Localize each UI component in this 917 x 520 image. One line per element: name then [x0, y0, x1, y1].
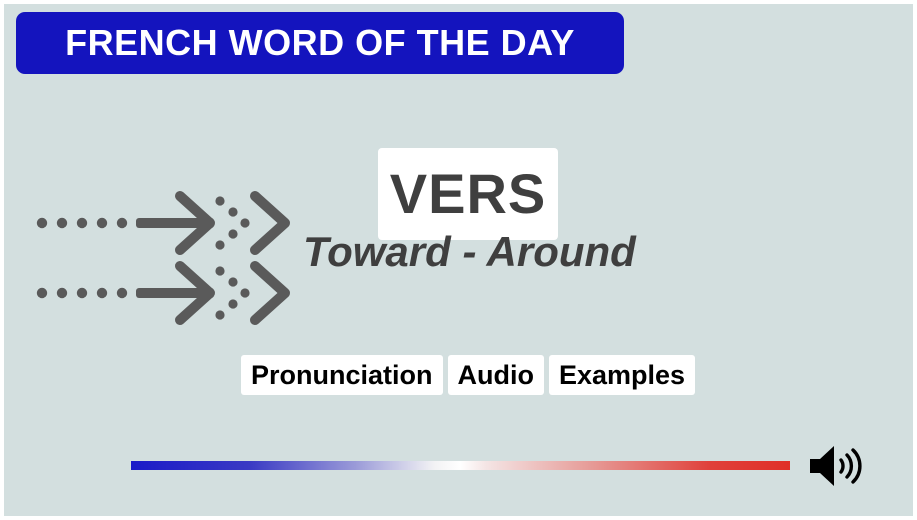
pronunciation-button[interactable]: Pronunciation	[241, 355, 443, 395]
double-arrow-with-dots-icon	[30, 258, 295, 328]
french-word: VERS	[390, 166, 547, 222]
french-word-of-the-day-card: FRENCH WORD OF THE DAY	[0, 0, 917, 520]
french-flag-gradient-bar[interactable]	[131, 461, 790, 470]
examples-button[interactable]: Examples	[549, 355, 695, 395]
audio-button[interactable]: Audio	[448, 355, 544, 395]
arrow-illustration-bottom	[30, 258, 295, 328]
double-arrow-with-dots-icon	[30, 188, 295, 258]
arrow-illustration-top	[30, 188, 295, 258]
word-box: VERS	[378, 148, 558, 240]
page-title: FRENCH WORD OF THE DAY	[65, 22, 575, 64]
title-banner: FRENCH WORD OF THE DAY	[16, 12, 624, 74]
speaker-volume-icon[interactable]	[806, 442, 866, 490]
speaker-icon-glyph	[806, 442, 866, 490]
action-button-row: Pronunciation Audio Examples	[241, 355, 695, 395]
word-translation: Toward - Around	[303, 228, 636, 276]
